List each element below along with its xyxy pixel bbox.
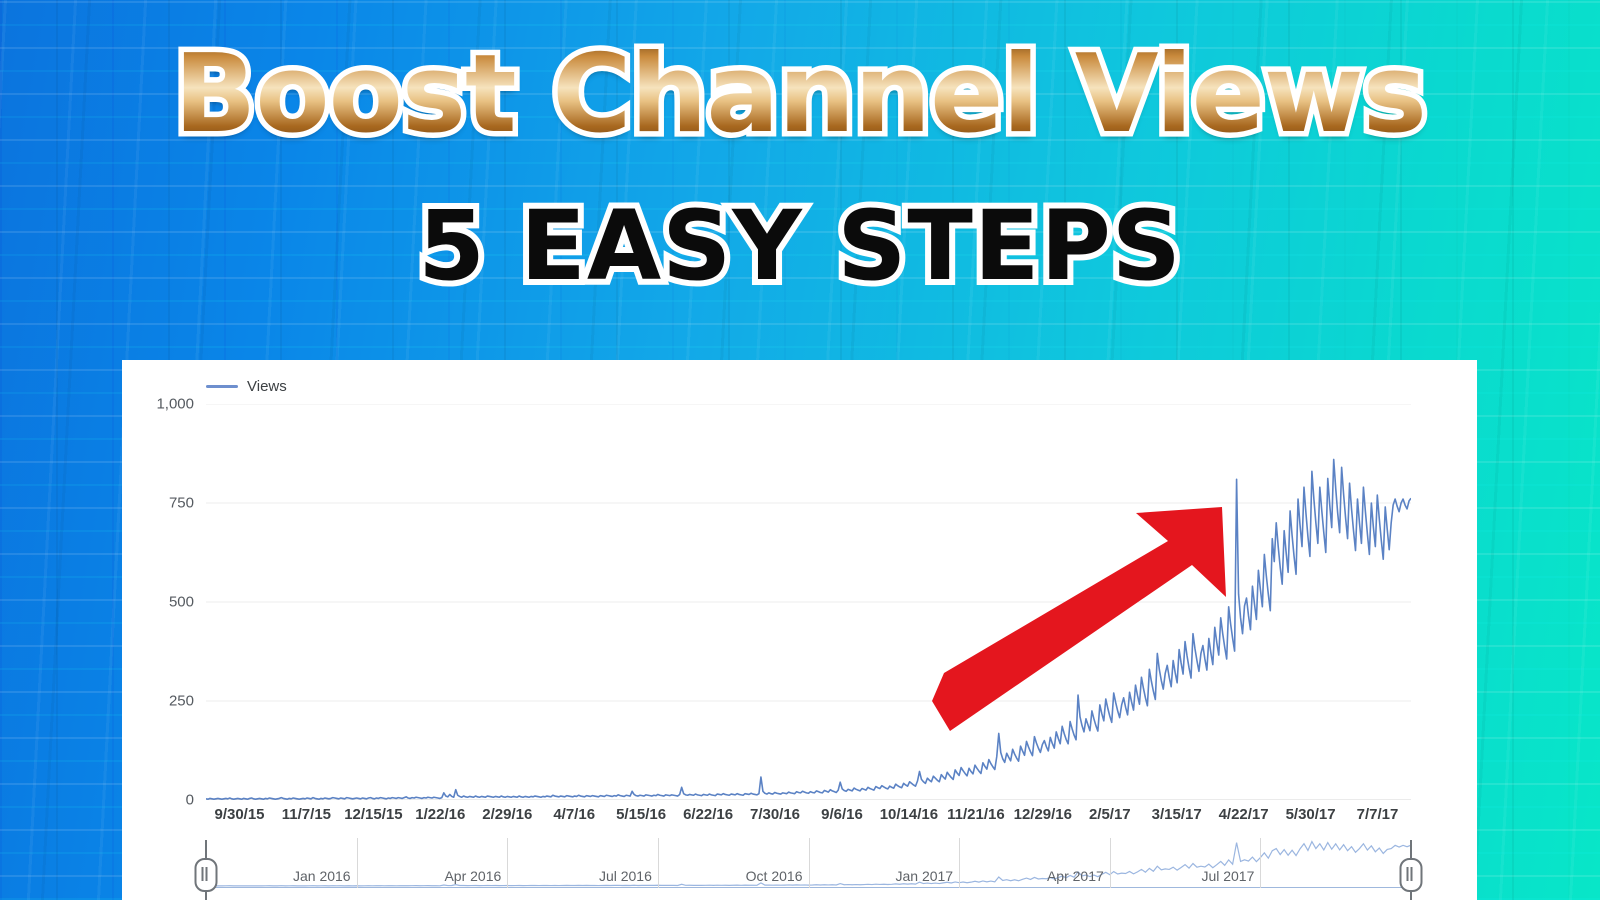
banner: Boost Channel Views Boost Channel Views … xyxy=(0,0,1600,348)
subtitle-text: 5 EASY STEPS xyxy=(418,196,1182,297)
y-tick-label: 750 xyxy=(169,495,194,512)
x-tick-label: 11/21/16 xyxy=(947,806,1005,823)
thumbnail-canvas: Boost Channel Views Boost Channel Views … xyxy=(0,0,1600,900)
range-month-label: Apr 2016 xyxy=(444,868,507,884)
x-tick-label: 12/15/15 xyxy=(344,806,402,823)
range-month-label: Apr 2017 xyxy=(1047,868,1110,884)
x-tick-label: 4/7/16 xyxy=(553,806,595,823)
x-tick-label: 1/22/16 xyxy=(415,806,465,823)
y-axis-labels: 02505007501,000 xyxy=(206,404,1411,800)
range-month-label: Jul 2017 xyxy=(1201,868,1260,884)
range-handle-right-grip[interactable] xyxy=(1400,858,1423,892)
chart-legend: Views xyxy=(206,378,287,395)
x-tick-label: 7/30/16 xyxy=(750,806,800,823)
range-month-label: Jul 2016 xyxy=(599,868,658,884)
x-tick-label: 10/14/16 xyxy=(880,806,938,823)
x-axis-labels: 9/30/1511/7/1512/15/151/22/162/29/164/7/… xyxy=(206,806,1411,830)
range-divider xyxy=(959,838,960,888)
y-tick-label: 500 xyxy=(169,594,194,611)
range-divider xyxy=(809,838,810,888)
x-tick-label: 12/29/16 xyxy=(1014,806,1072,823)
range-month-label: Oct 2016 xyxy=(746,868,809,884)
x-tick-label: 11/7/15 xyxy=(282,806,331,823)
range-month-label: Jan 2017 xyxy=(895,868,959,884)
x-tick-label: 2/5/17 xyxy=(1089,806,1131,823)
legend-line-swatch xyxy=(206,385,238,388)
y-tick-label: 0 xyxy=(186,792,194,809)
range-divider xyxy=(1110,838,1111,888)
x-tick-label: 5/30/17 xyxy=(1286,806,1336,823)
x-tick-label: 9/6/16 xyxy=(821,806,863,823)
range-divider xyxy=(357,838,358,888)
range-handle-left-grip[interactable] xyxy=(195,858,218,892)
date-range-selector[interactable]: Jan 2016Apr 2016Jul 2016Oct 2016Jan 2017… xyxy=(206,836,1411,898)
analytics-chart-panel: Views 02505007501,000 9/30/1511/7/1512/1… xyxy=(122,360,1477,900)
x-tick-label: 9/30/15 xyxy=(214,806,264,823)
x-tick-label: 3/15/17 xyxy=(1152,806,1202,823)
x-tick-label: 5/15/16 xyxy=(616,806,666,823)
x-tick-label: 6/22/16 xyxy=(683,806,733,823)
x-tick-label: 2/29/16 xyxy=(482,806,532,823)
page-title: Boost Channel Views xyxy=(0,38,1600,151)
x-tick-label: 7/7/17 xyxy=(1357,806,1399,823)
range-divider xyxy=(1260,838,1261,888)
y-tick-label: 250 xyxy=(169,693,194,710)
range-divider xyxy=(507,838,508,888)
range-month-label: Jan 2016 xyxy=(293,868,357,884)
range-handle-left[interactable] xyxy=(205,840,207,900)
y-tick-label: 1,000 xyxy=(156,396,194,413)
legend-label-views: Views xyxy=(247,378,287,395)
title-text: Boost Channel Views xyxy=(174,38,1426,151)
range-handle-right[interactable] xyxy=(1410,840,1412,900)
x-tick-label: 4/22/17 xyxy=(1219,806,1269,823)
range-divider xyxy=(658,838,659,888)
